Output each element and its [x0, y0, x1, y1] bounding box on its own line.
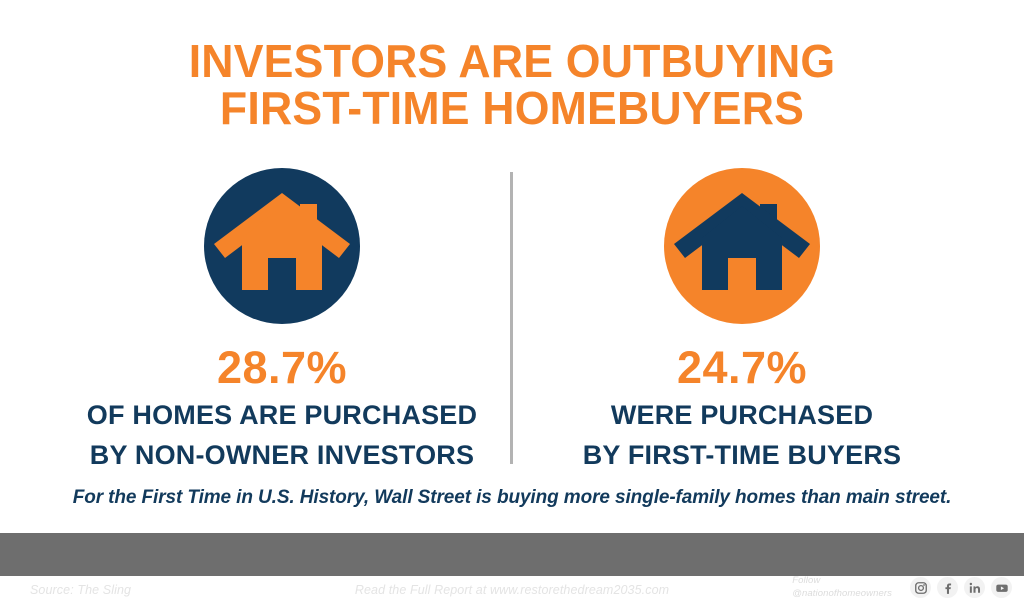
stat-caption-line-2: BY FIRST-TIME BUYERS [512, 438, 972, 472]
facebook-icon[interactable] [937, 577, 958, 598]
infographic-poster: INVESTORS ARE OUTBUYING FIRST-TIME HOMEB… [0, 0, 1024, 576]
page-title: INVESTORS ARE OUTBUYING FIRST-TIME HOMEB… [0, 38, 1024, 132]
page-title-line-1: INVESTORS ARE OUTBUYING [15, 38, 1008, 85]
social-links [910, 577, 1012, 598]
footer-follow: Follow @nationofhomeowners [792, 575, 892, 600]
page-title-line-2: FIRST-TIME HOMEBUYERS [15, 85, 1008, 132]
house-icon [664, 168, 820, 324]
stat-value: 24.7% [512, 344, 972, 392]
stat-block-first-time-buyers: 24.7% WERE PURCHASED BY FIRST-TIME BUYER… [512, 168, 972, 472]
stat-value: 28.7% [52, 344, 512, 392]
youtube-icon[interactable] [991, 577, 1012, 598]
stat-caption-line-2: BY NON-OWNER INVESTORS [52, 438, 512, 472]
subheadline: For the First Time in U.S. History, Wall… [0, 486, 1024, 510]
footer-follow-handle: @nationofhomeowners [792, 588, 892, 600]
instagram-icon[interactable] [910, 577, 931, 598]
stat-block-investors: 28.7% OF HOMES ARE PURCHASED BY NON-OWNE… [52, 168, 512, 472]
footer-follow-label: Follow [792, 575, 892, 588]
linkedin-icon[interactable] [964, 577, 985, 598]
stat-caption-line-1: OF HOMES ARE PURCHASED [52, 398, 512, 432]
footer-bar: Source: The Sling Read the Full Report a… [0, 533, 1024, 576]
house-icon [204, 168, 360, 324]
stat-caption-line-1: WERE PURCHASED [512, 398, 972, 432]
